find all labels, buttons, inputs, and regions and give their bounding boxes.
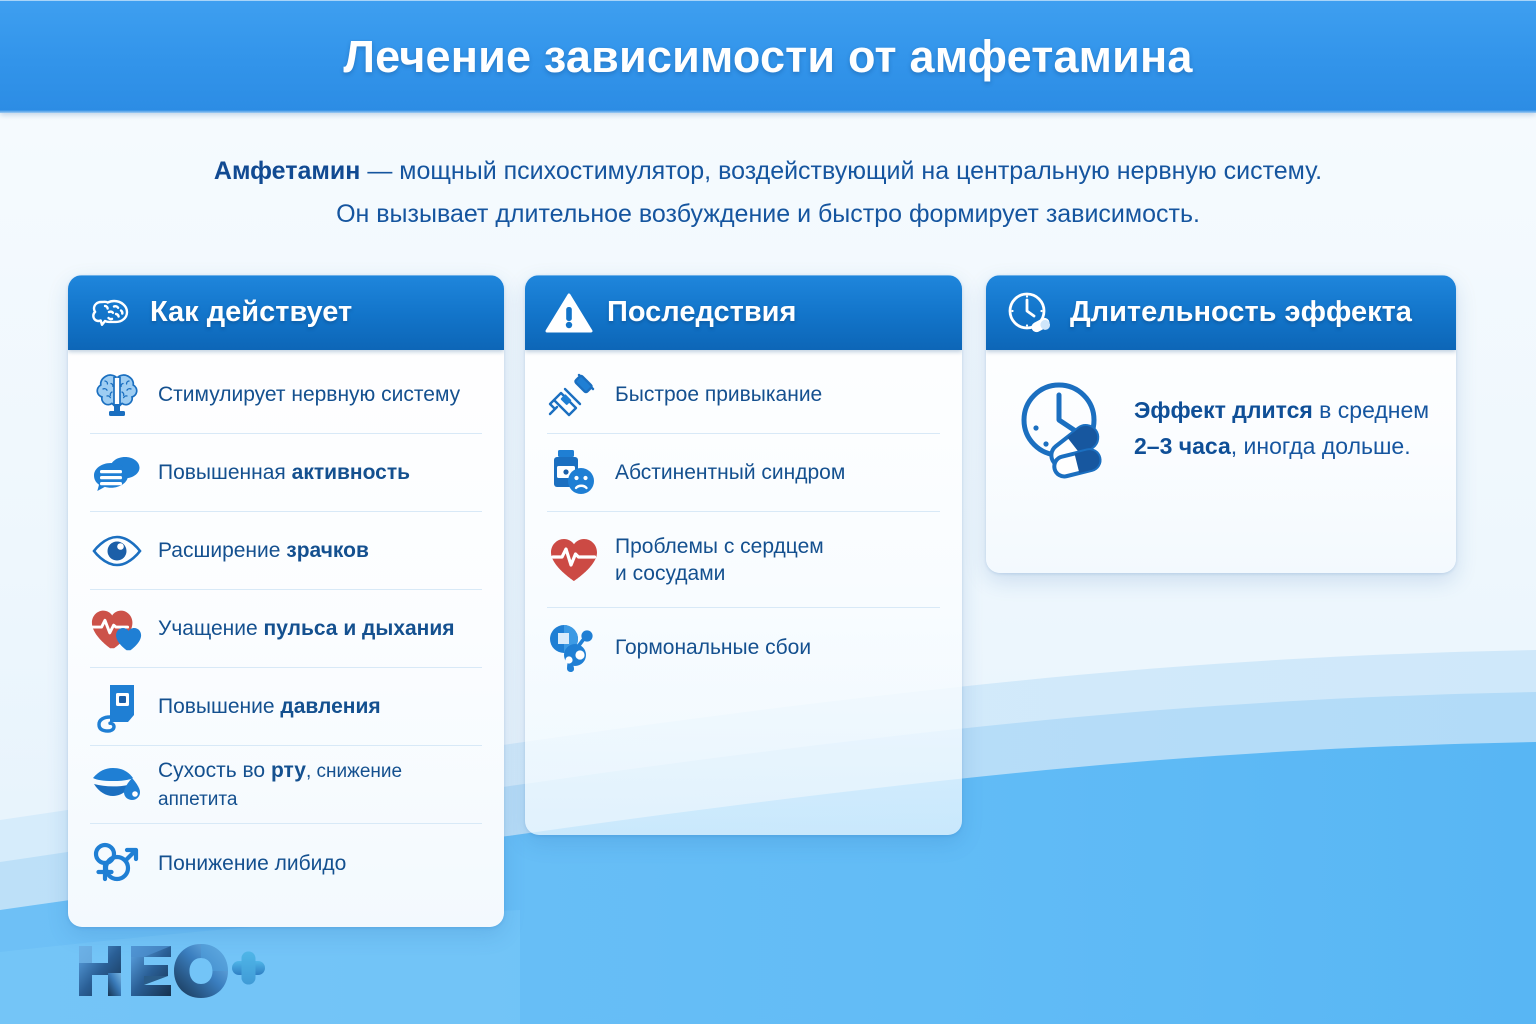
list-item-text: Сухость во	[158, 759, 271, 782]
card-how-it-works-body: Стимулирует нервную систему Повышенная а	[68, 350, 504, 916]
hormone-molecule-icon	[547, 620, 601, 674]
gender-symbols-icon	[90, 836, 144, 890]
blood-pressure-monitor-icon	[90, 680, 144, 734]
card-effect-duration: Длительность эффекта	[986, 275, 1456, 573]
card-effect-duration-body: Эффект длится в среднем 2–3 часа, иногда…	[986, 350, 1456, 510]
card-how-it-works-header: Как действует	[68, 275, 504, 350]
list-item-label: Сухость во рту, снижение аппетита	[158, 757, 482, 813]
list-item: Учащение пульса и дыхания	[90, 590, 482, 668]
list-item-label: Повышенная активность	[158, 459, 410, 486]
card-consequences-title: Последствия	[607, 296, 796, 329]
effect-duration-text: Эффект длится в среднем 2–3 часа, иногда…	[1134, 392, 1429, 464]
neo-plus-logo[interactable]	[75, 940, 265, 1002]
eye-icon	[90, 524, 144, 578]
intro-keyword: Амфетамин	[214, 157, 360, 185]
intro-line-2: Он вызывает длительное возбуждение и быс…	[0, 193, 1536, 236]
list-item-label: Расширение зрачков	[158, 537, 369, 564]
list-item-text: Повышение	[158, 695, 280, 718]
effect-duration-line2-bold: 2–3 часа	[1134, 433, 1231, 459]
intro-line-1: Амфетамин — мощный психостимулятор, возд…	[0, 150, 1536, 193]
list-item-emphasis: активность	[292, 461, 410, 484]
intro-block: Амфетамин — мощный психостимулятор, возд…	[0, 150, 1536, 236]
list-item-label: Учащение пульса и дыхания	[158, 615, 455, 642]
list-item-label: Быстрое привыкание	[615, 381, 822, 408]
list-item: Гормональные сбои	[547, 608, 940, 686]
infographic-canvas: Лечение зависимости от амфетамина Амфета…	[0, 0, 1536, 1024]
syringe-icon	[547, 368, 601, 422]
list-item-text: Учащение	[158, 617, 264, 640]
card-consequences-header: Последствия	[525, 275, 962, 350]
page-header-band: Лечение зависимости от амфетамина	[0, 0, 1536, 113]
list-item-text: Повышенная	[158, 461, 292, 484]
effect-duration-line1-bold: Эффект длится	[1134, 397, 1313, 423]
effect-duration-line1-rest: в среднем	[1313, 397, 1429, 423]
list-item-emphasis: рту	[271, 759, 306, 782]
list-item: Расширение зрачков	[90, 512, 482, 590]
pill-bottle-sad-icon	[547, 446, 601, 500]
list-item-label: Абстинентный синдром	[615, 459, 845, 486]
list-item-emphasis: давления	[280, 695, 380, 718]
list-item: Сухость во рту, снижение аппетита	[90, 746, 482, 824]
list-item-text: Расширение	[158, 539, 286, 562]
effect-duration-line2-rest: , иногда дольше.	[1231, 433, 1411, 459]
card-how-it-works: Как действует	[68, 275, 504, 927]
list-item: Повышенная активность	[90, 434, 482, 512]
clock-capsules-icon	[1012, 376, 1116, 480]
list-item: Быстрое привыкание	[547, 356, 940, 434]
brain-outline-icon	[88, 293, 136, 333]
dry-mouth-icon	[90, 758, 144, 812]
card-effect-duration-header: Длительность эффекта	[986, 275, 1456, 350]
heart-red-icon	[547, 533, 601, 587]
clock-pills-icon	[1006, 290, 1056, 336]
speech-bubble-icon	[90, 446, 144, 500]
brain-icon	[90, 368, 144, 422]
list-item: Повышение давления	[90, 668, 482, 746]
card-effect-duration-title: Длительность эффекта	[1070, 296, 1412, 329]
page-title: Лечение зависимости от амфетамина	[343, 31, 1192, 83]
list-item-label: Понижение либидо	[158, 850, 346, 877]
list-item-label: Гормональные сбои	[615, 634, 811, 661]
list-item-label: Повышение давления	[158, 693, 381, 720]
warning-triangle-icon	[545, 291, 593, 335]
list-item-emphasis: зрачков	[286, 539, 369, 562]
list-item: Проблемы с сердцем и сосудами	[547, 512, 940, 608]
list-item-emphasis: пульса и дыхания	[264, 617, 455, 640]
card-how-it-works-title: Как действует	[150, 296, 352, 329]
list-item: Абстинентный синдром	[547, 434, 940, 512]
list-item: Понижение либидо	[90, 824, 482, 902]
list-item-label: Проблемы с сердцем и сосудами	[615, 533, 824, 587]
intro-line-1-rest: — мощный психостимулятор, воздействующий…	[360, 157, 1322, 185]
list-item-label: Стимулирует нервную систему	[158, 381, 460, 408]
card-consequences: Последствия	[525, 275, 962, 835]
list-item: Стимулирует нервную систему	[90, 356, 482, 434]
heart-pulse-icon	[90, 602, 144, 656]
card-consequences-body: Быстрое привыкание Абстинентный с	[525, 350, 962, 700]
